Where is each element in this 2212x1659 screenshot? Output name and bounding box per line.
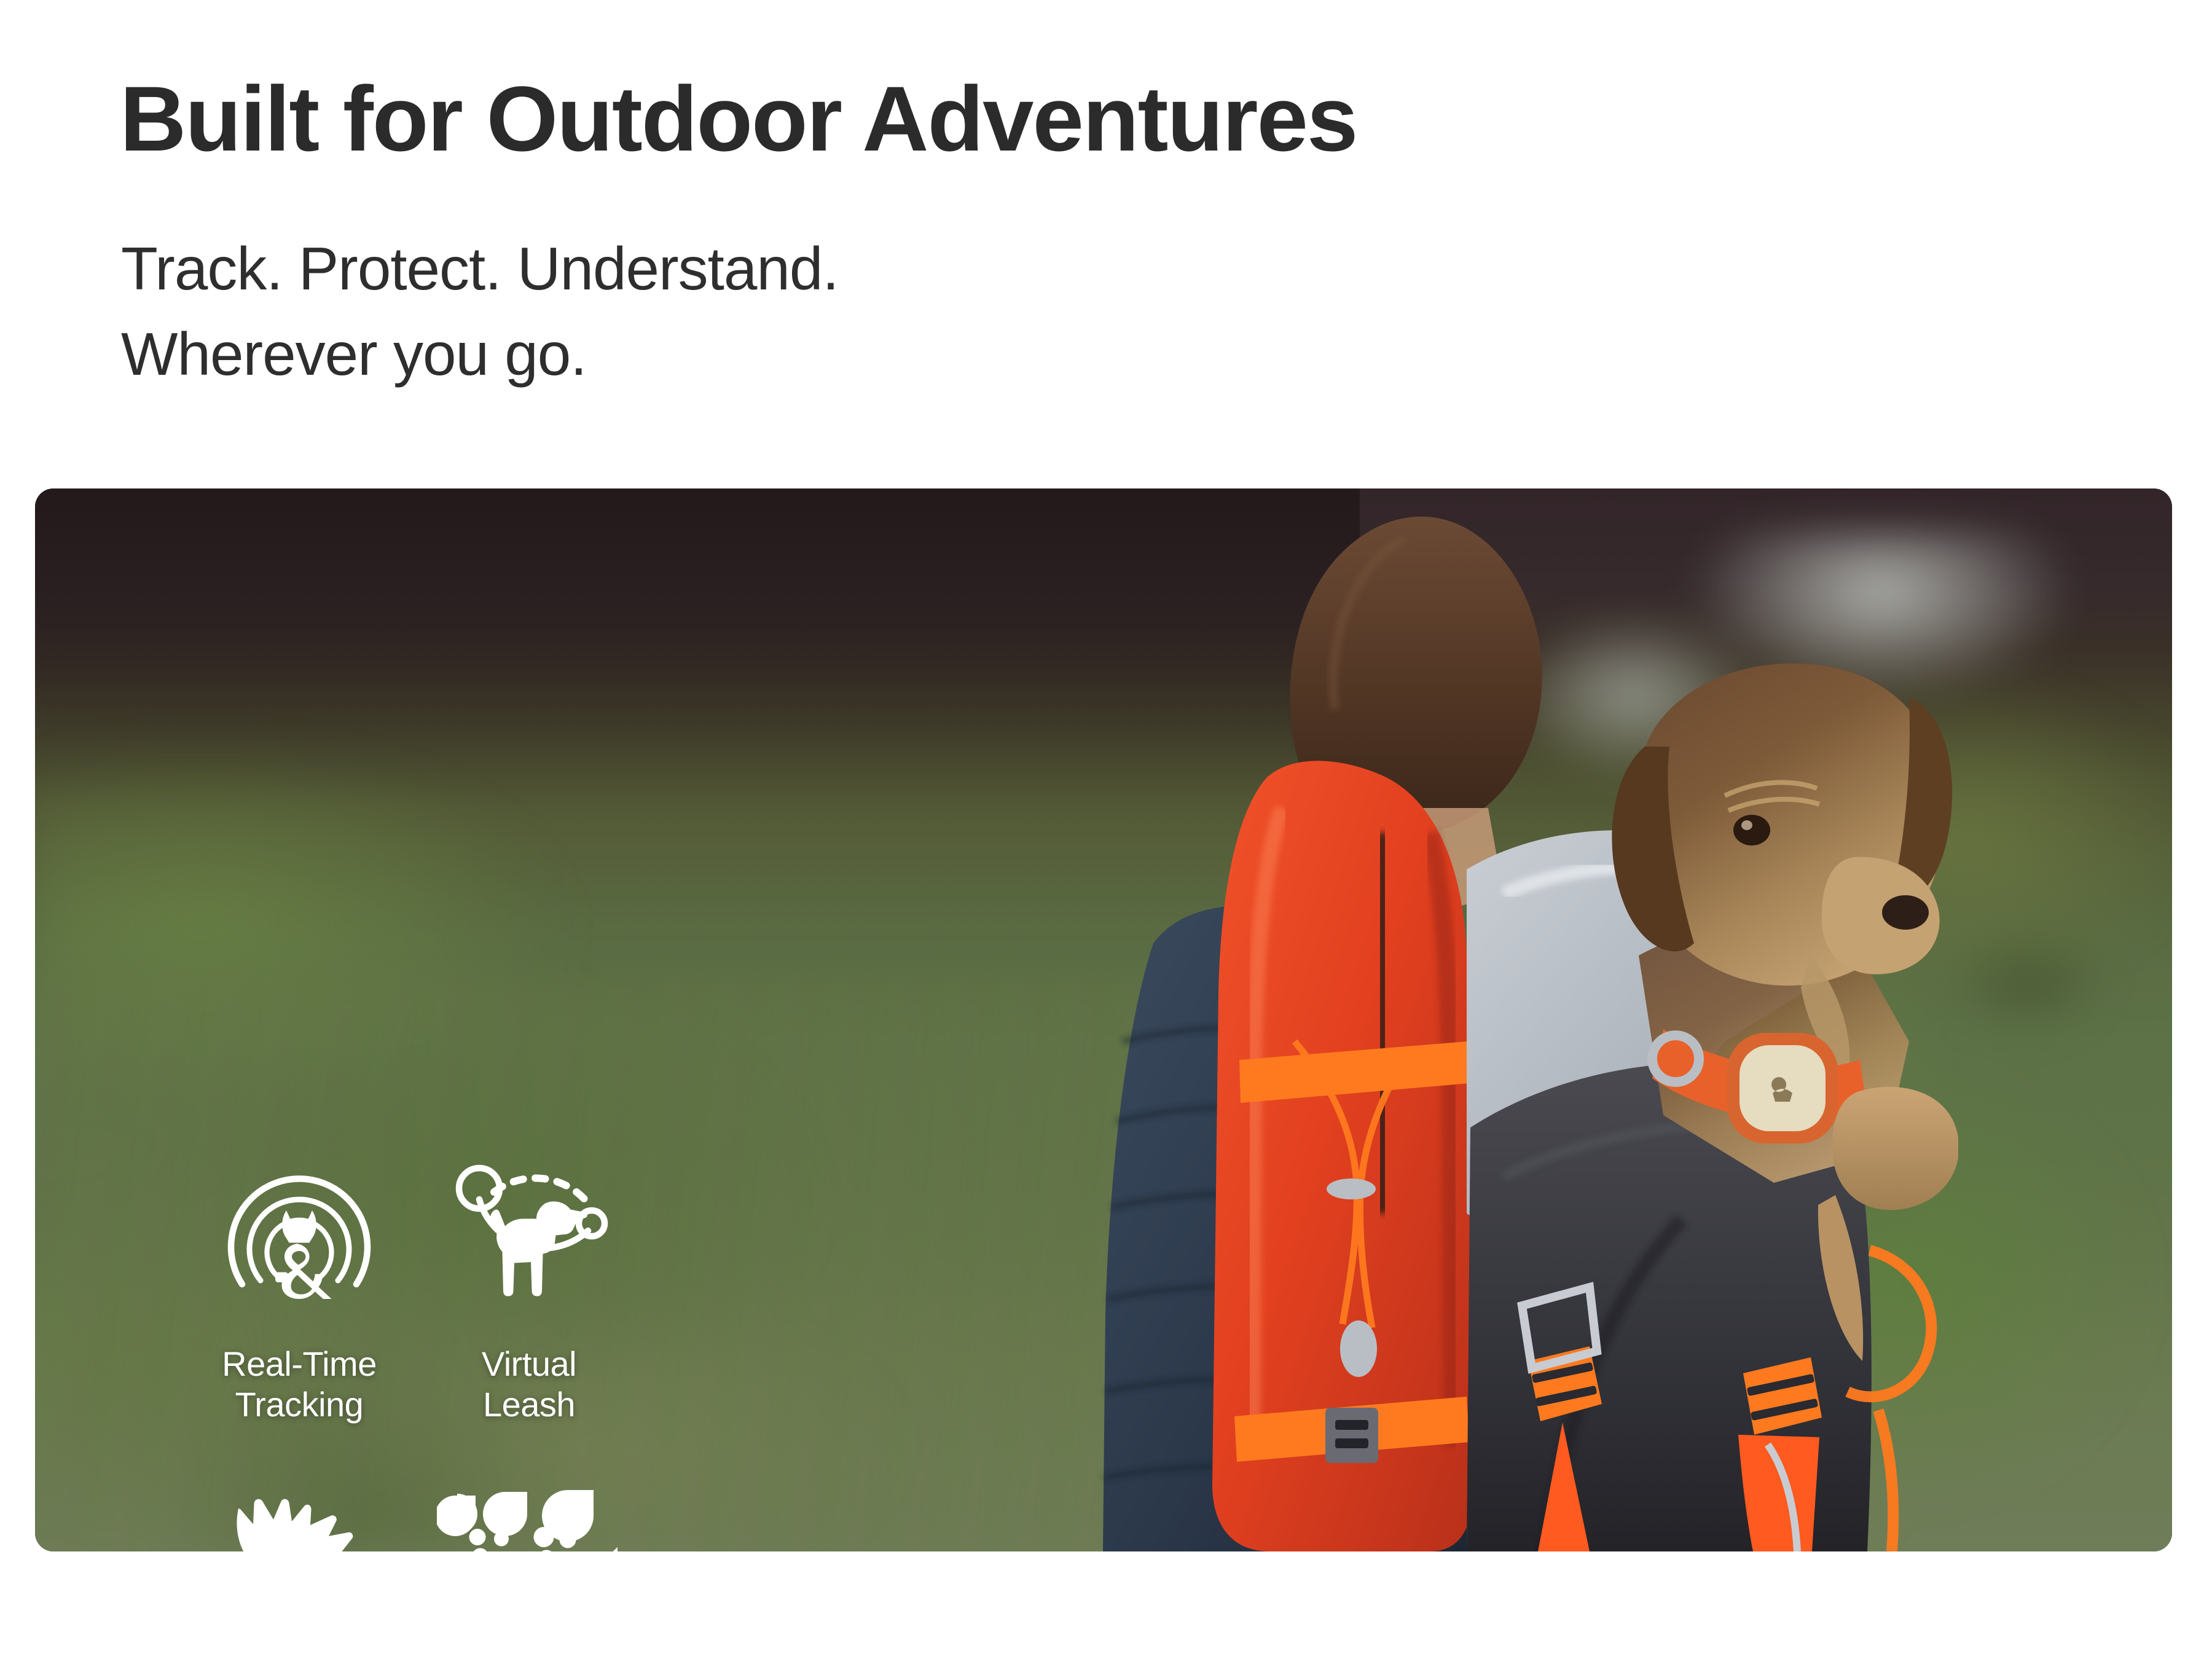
dog-silhouette [490, 1201, 587, 1296]
subtitle-line-1: Track. Protect. Understand. [121, 226, 839, 312]
feature-lightweight: 0.88 oz Lightweight [189, 1487, 410, 1551]
caption-line-1: Virtual [418, 1344, 640, 1384]
feather-lightweight-icon [207, 1487, 391, 1551]
subtitle-line-2: Wherever you go. [121, 312, 839, 397]
water-droplets [437, 1490, 594, 1551]
caption-line-2: Tracking [189, 1384, 410, 1425]
feature-grid: Real-Time Tracking [189, 1146, 640, 1551]
feature-waterproof: IP67 Waterproof [418, 1487, 640, 1551]
dry-zone [494, 1547, 618, 1551]
real-time-tracking-icon [207, 1146, 391, 1330]
marketing-banner: Built for Outdoor Adventures Track. Prot… [0, 0, 2212, 1659]
hiker-with-dog-illustration [1037, 488, 1958, 1551]
feature-caption: Real-Time Tracking [189, 1344, 410, 1424]
feature-virtual-leash: Virtual Leash [418, 1146, 640, 1424]
dog-paw [1818, 1087, 1958, 1361]
caption-line-2: Leash [418, 1384, 640, 1425]
pet-ampersand-mark [275, 1210, 332, 1299]
feature-caption: Virtual Leash [418, 1344, 640, 1424]
backpack-orange-roll [1212, 761, 1473, 1551]
feature-real-time-tracking: Real-Time Tracking [189, 1146, 410, 1424]
virtual-leash-icon [437, 1146, 621, 1330]
gps-tracker-device [1727, 1033, 1838, 1143]
waterproof-ip67-icon [437, 1487, 621, 1551]
backpack-buckle-right [1738, 1357, 1822, 1551]
hero-photo-card: Real-Time Tracking [35, 488, 2172, 1551]
page-title: Built for Outdoor Adventures [120, 73, 1357, 165]
page-subtitle: Track. Protect. Understand. Wherever you… [121, 226, 839, 397]
caption-line-1: Real-Time [189, 1344, 410, 1384]
